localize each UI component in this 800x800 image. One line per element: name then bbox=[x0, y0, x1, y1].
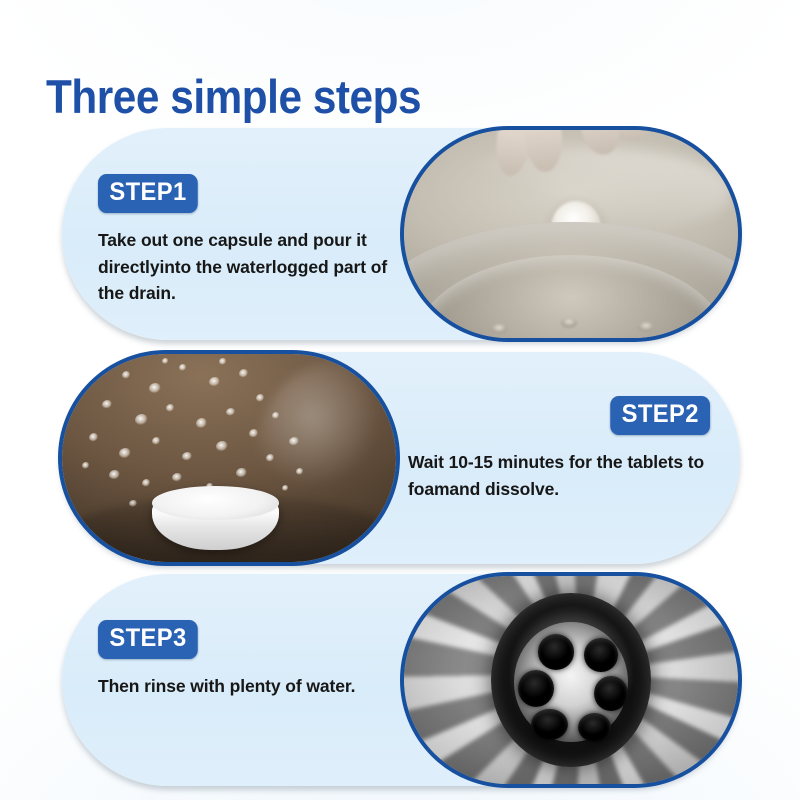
strainer-hole bbox=[538, 634, 575, 669]
strainer-hole bbox=[584, 638, 617, 671]
step-1-text-block: STEP1 Take out one capsule and pour it d… bbox=[98, 128, 428, 340]
step-3-photo bbox=[400, 572, 742, 788]
drain-hole bbox=[491, 324, 507, 334]
step-2-badge: STEP2 bbox=[610, 396, 710, 435]
drain-hole bbox=[561, 318, 577, 328]
step-card-1: STEP1 Take out one capsule and pour it d… bbox=[62, 128, 740, 340]
step-1-description: Take out one capsule and pour it directl… bbox=[98, 227, 398, 307]
drain-strainer-image bbox=[404, 576, 738, 784]
step-2-photo bbox=[58, 350, 400, 566]
step-1-badge: STEP1 bbox=[98, 174, 198, 213]
step-3-badge: STEP3 bbox=[98, 620, 198, 659]
step-card-3: STEP3 Then rinse with plenty of water. bbox=[62, 574, 740, 786]
step-2-description: Wait 10-15 minutes for the tablets to fo… bbox=[408, 449, 710, 502]
step-3-text-block: STEP3 Then rinse with plenty of water. bbox=[98, 574, 428, 786]
strainer-hole bbox=[531, 709, 568, 740]
tablet-icon bbox=[152, 487, 279, 549]
drain-hole bbox=[638, 322, 654, 332]
step-2-text-block: STEP2 Wait 10-15 minutes for the tablets… bbox=[380, 352, 710, 564]
strainer-hole bbox=[518, 670, 555, 707]
strainer-hole bbox=[594, 676, 627, 711]
step-3-description: Then rinse with plenty of water. bbox=[98, 673, 398, 700]
step-1-photo bbox=[400, 126, 742, 342]
step-card-2: STEP2 Wait 10-15 minutes for the tablets… bbox=[60, 352, 740, 564]
sink-drain-image bbox=[404, 130, 738, 338]
page-title: Three simple steps bbox=[46, 73, 421, 120]
foaming-tablet-image bbox=[62, 354, 396, 562]
